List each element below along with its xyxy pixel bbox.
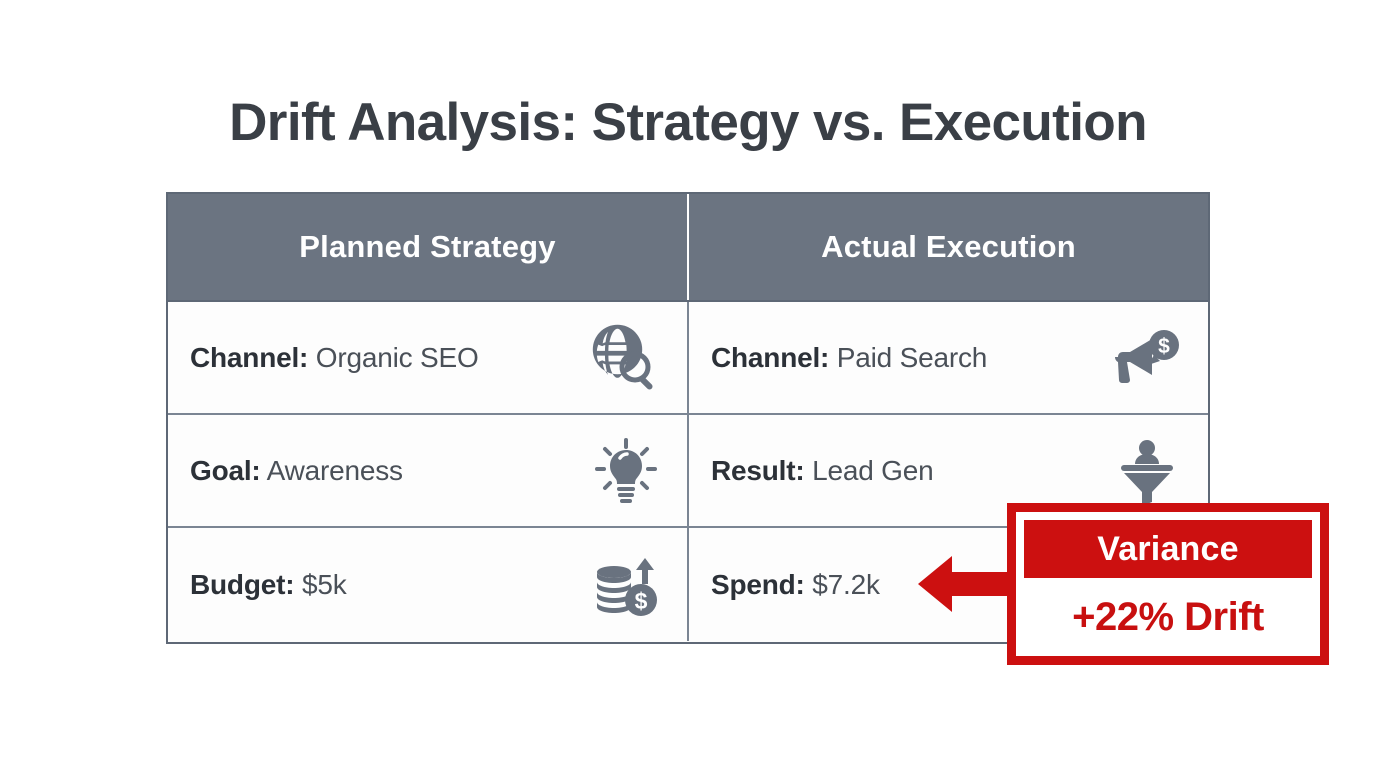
column-header-planned-strategy: Planned Strategy bbox=[168, 194, 689, 300]
cell-actual-spend-value: $7.2k bbox=[812, 569, 880, 600]
cell-planned-goal: Goal: Awareness bbox=[168, 415, 689, 526]
cell-actual-spend-text: Spend: $7.2k bbox=[711, 569, 880, 601]
cell-actual-channel-value: Paid Search bbox=[837, 342, 987, 373]
cell-planned-budget: Budget: $5k $ bbox=[168, 528, 689, 641]
cell-planned-goal-label: Goal: bbox=[190, 455, 261, 486]
cell-actual-result-value: Lead Gen bbox=[812, 455, 933, 486]
cell-actual-channel: Channel: Paid Search $ bbox=[689, 302, 1208, 413]
svg-text:$: $ bbox=[1158, 335, 1170, 358]
cell-planned-budget-label: Budget: bbox=[190, 569, 294, 600]
table-header-row: Planned Strategy Actual Execution bbox=[168, 194, 1208, 302]
cell-actual-result-label: Result: bbox=[711, 455, 805, 486]
column-header-planned-strategy-label: Planned Strategy bbox=[299, 229, 555, 265]
coin-stack-growth-icon: $ bbox=[589, 548, 663, 622]
page-title: Drift Analysis: Strategy vs. Execution bbox=[0, 92, 1376, 153]
table-row: Channel: Organic SEO Channel: bbox=[168, 302, 1208, 415]
cell-planned-channel: Channel: Organic SEO bbox=[168, 302, 689, 413]
slide-canvas: Drift Analysis: Strategy vs. Execution P… bbox=[0, 0, 1376, 768]
cell-planned-goal-text: Goal: Awareness bbox=[190, 455, 403, 487]
cell-planned-channel-text: Channel: Organic SEO bbox=[190, 342, 479, 374]
lead-funnel-icon bbox=[1110, 434, 1184, 508]
cell-planned-channel-label: Channel: bbox=[190, 342, 308, 373]
megaphone-dollar-icon: $ bbox=[1110, 321, 1184, 395]
lightbulb-icon bbox=[589, 434, 663, 508]
left-arrow-icon bbox=[918, 551, 1014, 617]
cell-actual-result-text: Result: Lead Gen bbox=[711, 455, 934, 487]
column-header-actual-execution-label: Actual Execution bbox=[821, 229, 1076, 265]
cell-planned-budget-value: $5k bbox=[302, 569, 347, 600]
cell-actual-channel-label: Channel: bbox=[711, 342, 829, 373]
globe-search-icon bbox=[589, 321, 663, 395]
cell-planned-budget-text: Budget: $5k bbox=[190, 569, 347, 601]
cell-actual-channel-text: Channel: Paid Search bbox=[711, 342, 987, 374]
column-header-actual-execution: Actual Execution bbox=[689, 194, 1208, 300]
svg-text:$: $ bbox=[635, 588, 648, 614]
cell-planned-goal-value: Awareness bbox=[267, 455, 403, 486]
variance-callout-body: +22% Drift bbox=[1016, 578, 1320, 656]
variance-callout-header: Variance bbox=[1024, 520, 1312, 578]
cell-planned-channel-value: Organic SEO bbox=[316, 342, 479, 373]
variance-callout-value: +22% Drift bbox=[1072, 595, 1264, 640]
variance-callout-heading: Variance bbox=[1097, 530, 1239, 569]
variance-callout: Variance +22% Drift bbox=[1007, 503, 1329, 665]
cell-actual-spend-label: Spend: bbox=[711, 569, 805, 600]
